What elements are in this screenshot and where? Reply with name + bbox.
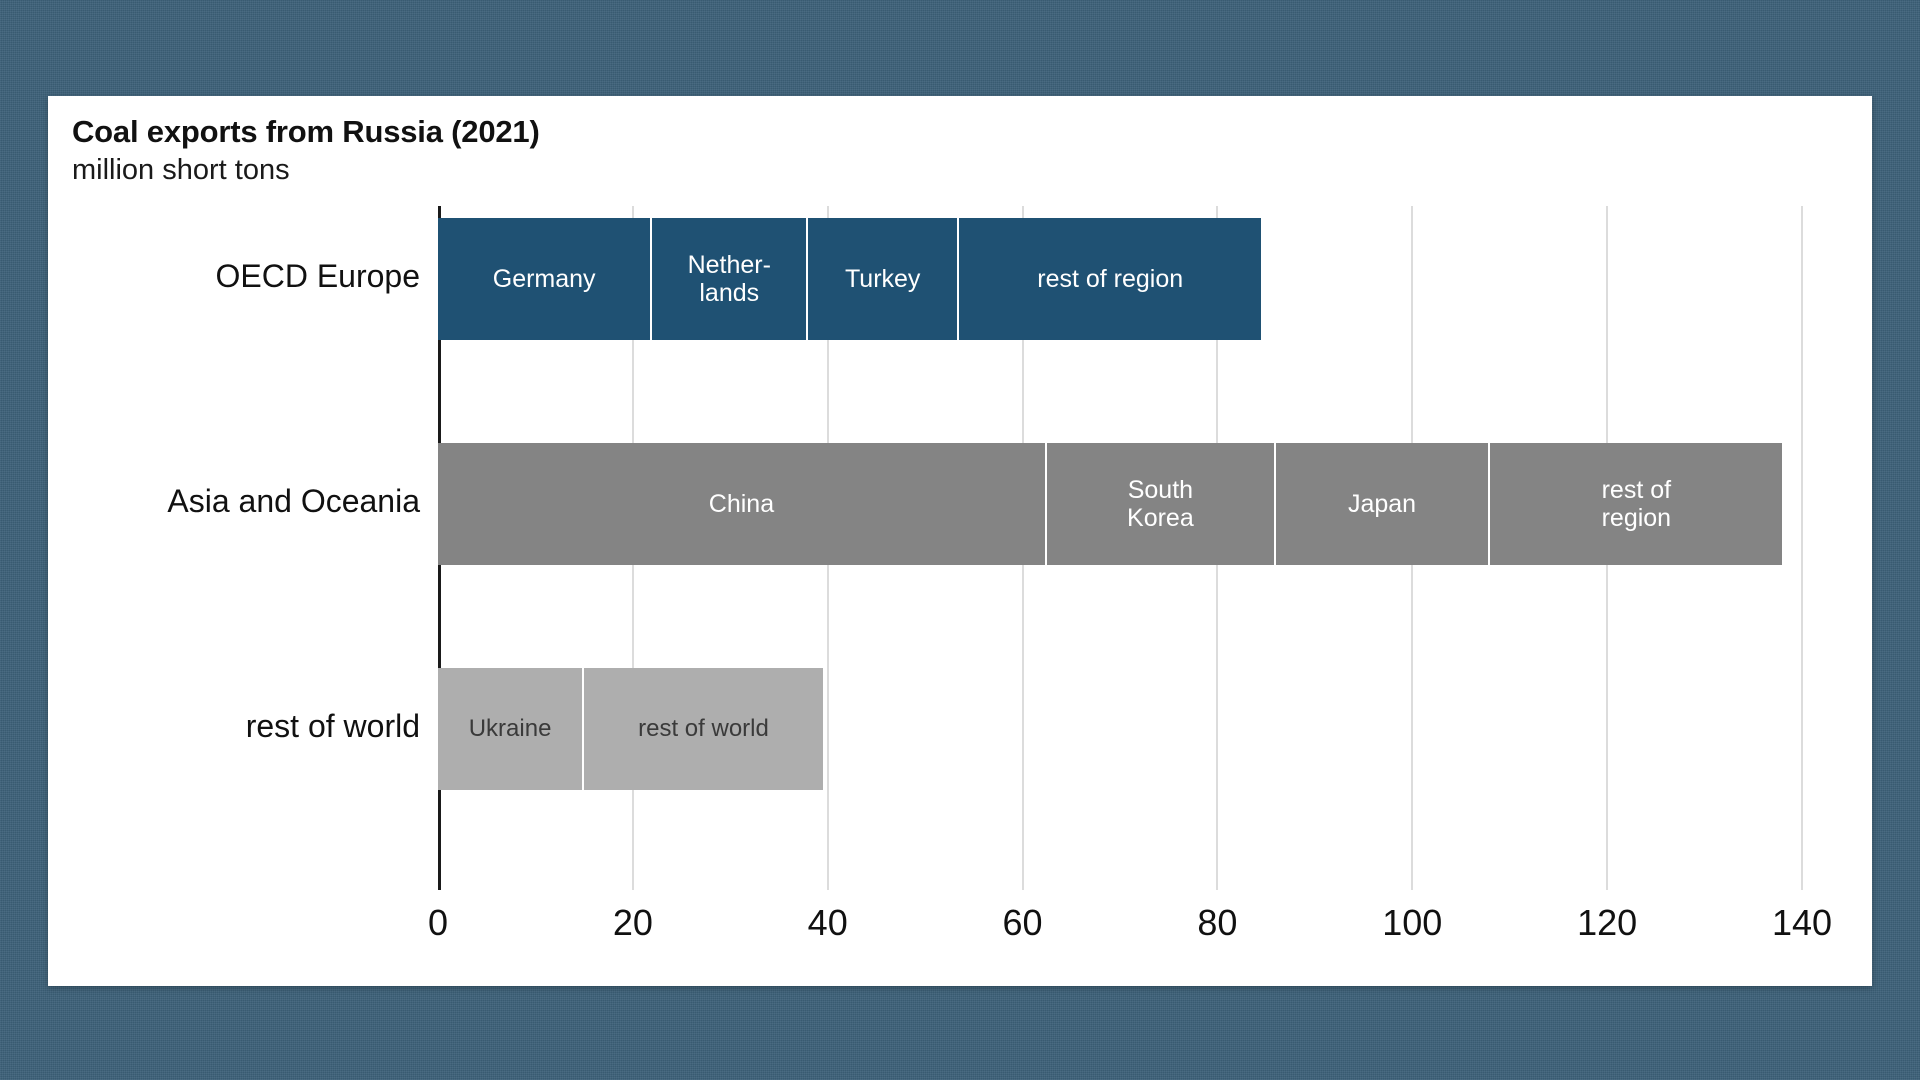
bar-row[interactable]: ChinaSouth KoreaJapanrest of region [438, 443, 1783, 565]
bar-segment[interactable]: Japan [1276, 443, 1490, 565]
bar-segment[interactable]: South Korea [1047, 443, 1276, 565]
chart-title: Coal exports from Russia (2021) [72, 114, 540, 150]
x-tick-label: 120 [1577, 902, 1637, 944]
category-label: OECD Europe [0, 258, 420, 295]
bar-segment[interactable]: China [438, 443, 1047, 565]
bar-segment[interactable]: Ukraine [438, 668, 584, 790]
bar-segment-label: Turkey [841, 265, 924, 293]
bar-segment[interactable]: rest of region [1490, 443, 1782, 565]
x-tick-label: 60 [1003, 902, 1043, 944]
x-tick-label: 140 [1772, 902, 1832, 944]
x-tick-label: 80 [1197, 902, 1237, 944]
bar-segment-label: Japan [1344, 490, 1420, 518]
bar-segment-label: rest of region [1033, 265, 1187, 293]
bar-segment[interactable]: rest of world [584, 668, 823, 790]
bar-segment-label: China [705, 490, 778, 518]
bar-segment-label: South Korea [1123, 476, 1198, 532]
bar-segment[interactable]: Germany [438, 218, 652, 340]
x-tick-label: 40 [808, 902, 848, 944]
bar-segment-label: rest of world [634, 716, 773, 743]
plot-area: GermanyNether- landsTurkeyrest of region… [438, 206, 1802, 889]
bar-segment-label: rest of region [1598, 476, 1676, 532]
bar-row[interactable]: GermanyNether- landsTurkeyrest of region [438, 218, 1261, 340]
bar-segment[interactable]: rest of region [959, 218, 1261, 340]
chart-subtitle: million short tons [72, 154, 290, 187]
x-tick-label: 0 [428, 902, 448, 944]
category-label: Asia and Oceania [0, 483, 420, 520]
bar-segment-label: Ukraine [465, 716, 556, 743]
category-label: rest of world [0, 708, 420, 745]
bar-segment[interactable]: Turkey [808, 218, 959, 340]
bar-segment-label: Nether- lands [684, 251, 775, 307]
x-tick-label: 20 [613, 902, 653, 944]
bar-segment-label: Germany [489, 265, 600, 293]
bar-row[interactable]: Ukrainerest of world [438, 668, 823, 790]
chart-card: Coal exports from Russia (2021) million … [48, 96, 1872, 986]
x-tick-label: 100 [1382, 902, 1442, 944]
bar-segment[interactable]: Nether- lands [652, 218, 808, 340]
